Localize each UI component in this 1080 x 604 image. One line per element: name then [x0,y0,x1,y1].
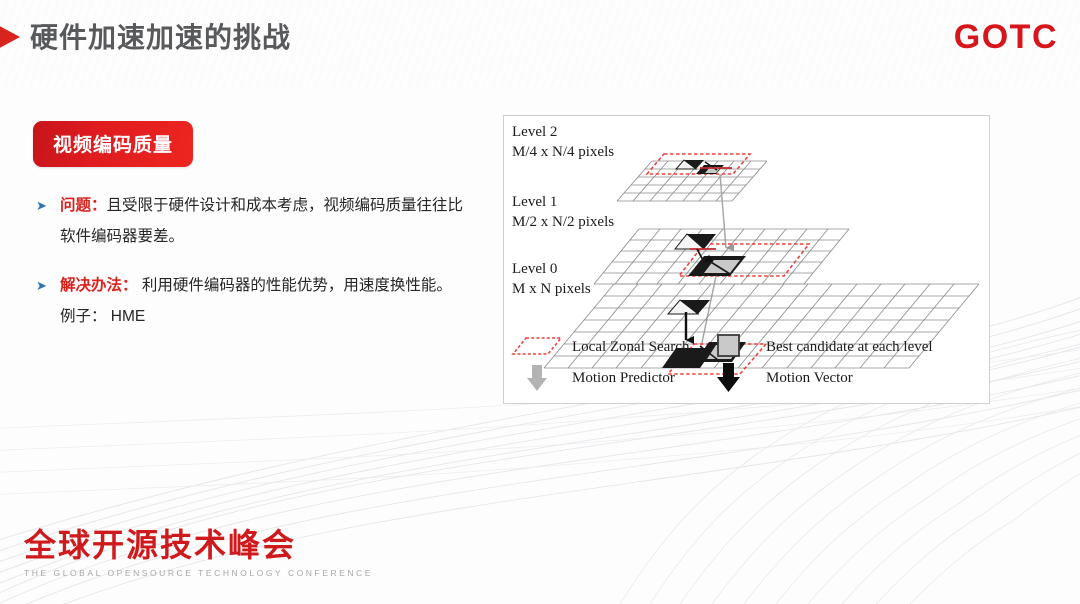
chevron-right-icon: ➤ [36,270,50,301]
black-down-arrow-icon [717,363,740,392]
list-item: ➤ 解决办法： 利用硬件编码器的性能优势，用速度换性能。例子： HME [36,270,466,332]
chevron-right-icon: ➤ [36,190,50,221]
red-triangle-marker-icon [0,22,20,52]
legend-label-motion-predictor: Motion Predictor [572,370,675,386]
diagram-legend: Local Zonal Search Motion Predictor Best… [513,335,933,392]
level-0-subtitle: M x N pixels [512,281,591,297]
bullet-lead-label: 问题： [60,197,107,214]
legend-label-local-zonal-search: Local Zonal Search [572,339,690,355]
level-0-title: Level 0 [512,261,557,277]
hme-pyramid-diagram: Level 2 M/4 x N/4 pixels Level 1 M/2 x N… [503,115,990,404]
list-item: ➤ 问题：且受限于硬件设计和成本考虑，视频编码质量往往比软件编码器要差。 [36,190,466,252]
legend-label-best-candidate: Best candidate at each level [766,339,933,355]
page-title: 硬件加速加速的挑战 [30,16,291,56]
gray-down-arrow-icon [527,365,547,391]
bullet-list: ➤ 问题：且受限于硬件设计和成本考虑，视频编码质量往往比软件编码器要差。 ➤ 解… [36,190,466,350]
level-2-title: Level 2 [512,124,557,140]
footer-title-en: THE GLOBAL OPENSOURCE TECHNOLOGY CONFERE… [24,568,373,578]
level-0-plane [544,284,979,374]
slide-header: 硬件加速加速的挑战 GOTC [0,8,1080,64]
footer-title-cn: 全球开源技术峰会 [24,528,373,563]
diagram-svg: Level 2 M/4 x N/4 pixels Level 1 M/2 x N… [504,116,989,403]
gotc-logo: GOTC [954,18,1058,57]
bullet-body-text: 且受限于硬件设计和成本考虑，视频编码质量往往比软件编码器要差。 [60,197,463,245]
level-1-title: Level 1 [512,194,557,210]
red-dashed-parallelogram-icon [513,338,561,354]
bullet-lead-label: 解决办法： [60,277,138,294]
legend-label-motion-vector: Motion Vector [766,370,853,386]
section-badge: 视频编码质量 [33,121,193,167]
level-2-subtitle: M/4 x N/4 pixels [512,144,614,160]
conference-footer: 全球开源技术峰会 THE GLOBAL OPENSOURCE TECHNOLOG… [24,528,373,578]
gray-square-icon [718,335,739,356]
slide-root: 硬件加速加速的挑战 GOTC 视频编码质量 ➤ 问题：且受限于硬件设计和成本考虑… [0,0,1080,604]
level-1-subtitle: M/2 x N/2 pixels [512,214,614,230]
level-1-plane [594,229,849,284]
level-2-plane [617,154,767,201]
